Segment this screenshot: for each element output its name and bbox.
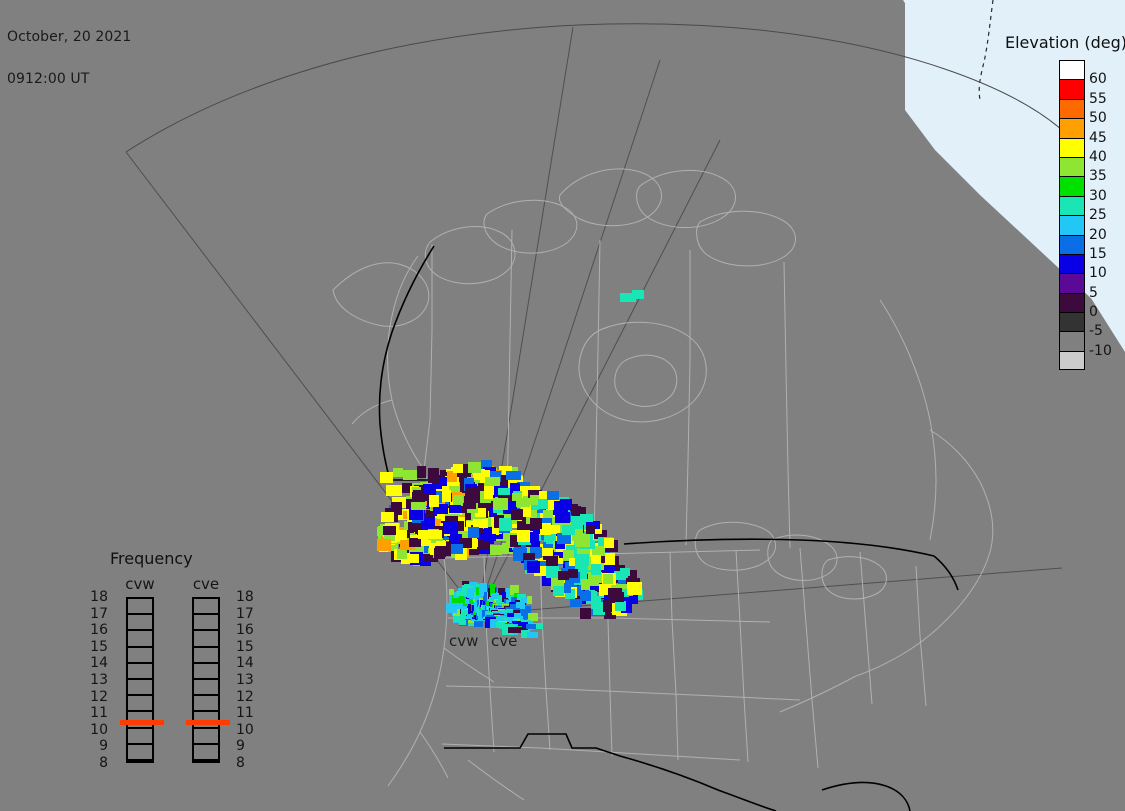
frequency-tick-label: 18 [236,590,254,604]
frequency-tick-label: 9 [236,739,254,753]
frequency-scale-cell [128,615,152,631]
elevation-colorbar-labels: 605550454035302520151050-5-10 [1089,60,1125,361]
backscatter-cell [403,470,417,480]
backscatter-cell [527,596,532,604]
colorbar-swatch-1 [1059,79,1085,98]
backscatter-cell [423,554,433,562]
frequency-tick-label: 11 [90,706,108,720]
backscatter-cell [429,495,439,507]
frequency-legend-title: Frequency [110,549,193,568]
backscatter-cell [610,592,624,602]
frequency-tick-label: 9 [90,739,108,753]
backscatter-cell [443,521,458,534]
backscatter-cell [386,485,402,496]
backscatter-cell [465,488,477,498]
frequency-tick-label: 17 [236,607,254,621]
backscatter-cell [453,464,463,473]
site-label-cve: cve [491,634,517,649]
colorbar-tick-label: 60 [1089,70,1125,89]
backscatter-cell [555,512,570,523]
frequency-marker [120,720,164,725]
colorbar-tick-label: -10 [1089,341,1125,360]
colorbar-swatch-6 [1059,176,1085,195]
frequency-scale-cell [194,696,218,712]
backscatter-cell [530,532,539,543]
backscatter-cell [468,462,481,473]
frequency-scale-cell [128,599,152,615]
frequency-tick-label: 17 [90,607,108,621]
frequency-column-header: cve [178,575,234,593]
colorbar-swatch-3 [1059,118,1085,137]
colorbar-swatch-7 [1059,196,1085,215]
backscatter-cell [409,538,421,547]
backscatter-cell [543,510,553,518]
backscatter-cell [615,601,626,611]
backscatter-cell [562,525,575,535]
backscatter-cell [377,539,391,551]
frequency-scale-cell [128,648,152,664]
backscatter-cell [490,545,502,555]
colorbar-tick-label: 55 [1089,89,1125,108]
frequency-tick-label: 8 [236,756,254,770]
backscatter-cell [383,526,396,535]
backscatter-cell [442,490,451,502]
backscatter-cell [417,466,426,478]
backscatter-cell [547,491,559,500]
backscatter-cell [603,574,613,584]
colorbar-tick-label: 45 [1089,128,1125,147]
backscatter-cell [538,499,548,509]
colorbar-tick-label: 10 [1089,264,1125,283]
backscatter-cell [397,549,407,559]
backscatter-cell [620,568,630,576]
frequency-tick-label: 8 [90,756,108,770]
map-canvas [0,0,1125,811]
backscatter-cell [530,518,542,529]
colorbar-tick-label: 25 [1089,205,1125,224]
frequency-tick-label: 14 [236,656,254,670]
backscatter-cell [591,563,601,575]
backscatter-cell [604,553,615,565]
timestamp-date: October, 20 2021 [7,30,131,44]
backscatter-cell [560,499,572,510]
frequency-scale-cell [128,680,152,696]
colorbar-tick-label: 15 [1089,244,1125,263]
colorbar-swatch-9 [1059,235,1085,254]
backscatter-cell [506,471,521,480]
backscatter-cell [591,555,601,564]
colorbar-swatch-11 [1059,273,1085,292]
frequency-tick-label: 15 [90,640,108,654]
backscatter-cell [449,505,461,513]
backscatter-cell [527,632,538,638]
colorbar-tick-label: 35 [1089,167,1125,186]
backscatter-cell [526,624,536,629]
frequency-scale-cell [194,599,218,615]
backscatter-cell [435,546,446,557]
frequency-tick-label: 18 [90,590,108,604]
colorbar-swatch-4 [1059,138,1085,157]
backscatter-cell [586,526,595,534]
backscatter-cell [447,603,457,613]
colorbar-label-offset [1089,60,1125,70]
frequency-marker [186,720,230,725]
frequency-tick-label: 11 [236,706,254,720]
colorbar-swatch-10 [1059,254,1085,273]
frequency-column-cvw: cvw18171615141312111098 [112,597,168,763]
backscatter-cell [580,591,591,601]
backscatter-cell [409,554,419,563]
backscatter-cell [575,534,590,547]
backscatter-cell [411,502,426,510]
colorbar-swatch-8 [1059,215,1085,234]
frequency-tick-label: 12 [90,690,108,704]
colorbar-tick-label: 40 [1089,147,1125,166]
colorbar-title: Elevation (deg) [1005,33,1125,52]
frequency-scale-cell [194,648,218,664]
backscatter-cell [380,472,393,483]
frequency-column-header: cvw [112,575,168,593]
backscatter-cell [581,579,590,590]
frequency-tick-label: 16 [90,623,108,637]
colorbar-tick-label: 0 [1089,302,1125,321]
backscatter-cell [604,538,614,548]
frequency-scale-cell [194,680,218,696]
frequency-tick-label: 10 [90,723,108,737]
backscatter-cell [468,527,479,538]
frequency-column-cve: cve18171615141312111098 [178,597,234,763]
frequency-scale-cell [128,631,152,647]
frequency-scale-cell [128,745,152,761]
backscatter-cell [516,498,530,507]
frequency-tick-label: 12 [236,690,254,704]
elevation-colorbar [1059,60,1085,370]
colorbar-swatch-13 [1059,312,1085,331]
timestamp: October, 20 2021 0912:00 UT [7,2,131,114]
backscatter-cell [553,586,564,596]
backscatter-cell [423,484,436,494]
timestamp-time: 0912:00 UT [7,72,131,86]
colorbar-swatch-2 [1059,99,1085,118]
colorbar-swatch-15 [1059,351,1085,370]
colorbar-tick-label: -5 [1089,322,1125,341]
backscatter-cell [575,554,589,566]
frequency-scale-cell [128,664,152,680]
radar-map-figure: October, 20 2021 0912:00 UT cvwcve Eleva… [0,0,1125,811]
backscatter-cell [418,530,432,539]
frequency-tick-label: 14 [90,656,108,670]
site-label-cvw: cvw [449,634,478,649]
colorbar-swatch-5 [1059,157,1085,176]
backscatter-cell [542,548,553,556]
frequency-tick-label: 13 [90,673,108,687]
frequency-tick-label: 15 [236,640,254,654]
colorbar-swatch-0 [1059,60,1085,79]
frequency-tick-label: 16 [236,623,254,637]
backscatter-cell [632,290,644,299]
frequency-scale-box [192,597,220,763]
colorbar-tick-label: 20 [1089,225,1125,244]
backscatter-cell [381,512,394,522]
backscatter-cell [493,498,508,510]
colorbar-tick-label: 5 [1089,283,1125,302]
backscatter-cell [627,582,642,595]
colorbar-swatch-12 [1059,293,1085,312]
backscatter-cell [449,589,454,595]
backscatter-cell [451,544,463,554]
backscatter-cell [527,561,540,573]
backscatter-cell [511,509,523,520]
frequency-scale-cell [194,745,218,761]
frequency-scale-box [126,597,154,763]
frequency-scale-cell [128,729,152,745]
colorbar-swatch-14 [1059,331,1085,350]
backscatter-cell [485,477,500,486]
backscatter-cell [517,530,530,542]
frequency-scale-cell [194,615,218,631]
backscatter-cell [393,468,403,477]
colorbar-tick-label: 50 [1089,108,1125,127]
frequency-tick-label: 10 [236,723,254,737]
backscatter-cell [580,608,591,619]
frequency-scale-cell [128,696,152,712]
backscatter-cell [568,569,578,578]
backscatter-cell [428,475,440,483]
frequency-scale-cell [194,631,218,647]
colorbar-tick-label: 30 [1089,186,1125,205]
frequency-tick-label: 13 [236,673,254,687]
backscatter-cell [412,492,423,501]
frequency-scale-cell [194,664,218,680]
frequency-scale-cell [194,729,218,745]
